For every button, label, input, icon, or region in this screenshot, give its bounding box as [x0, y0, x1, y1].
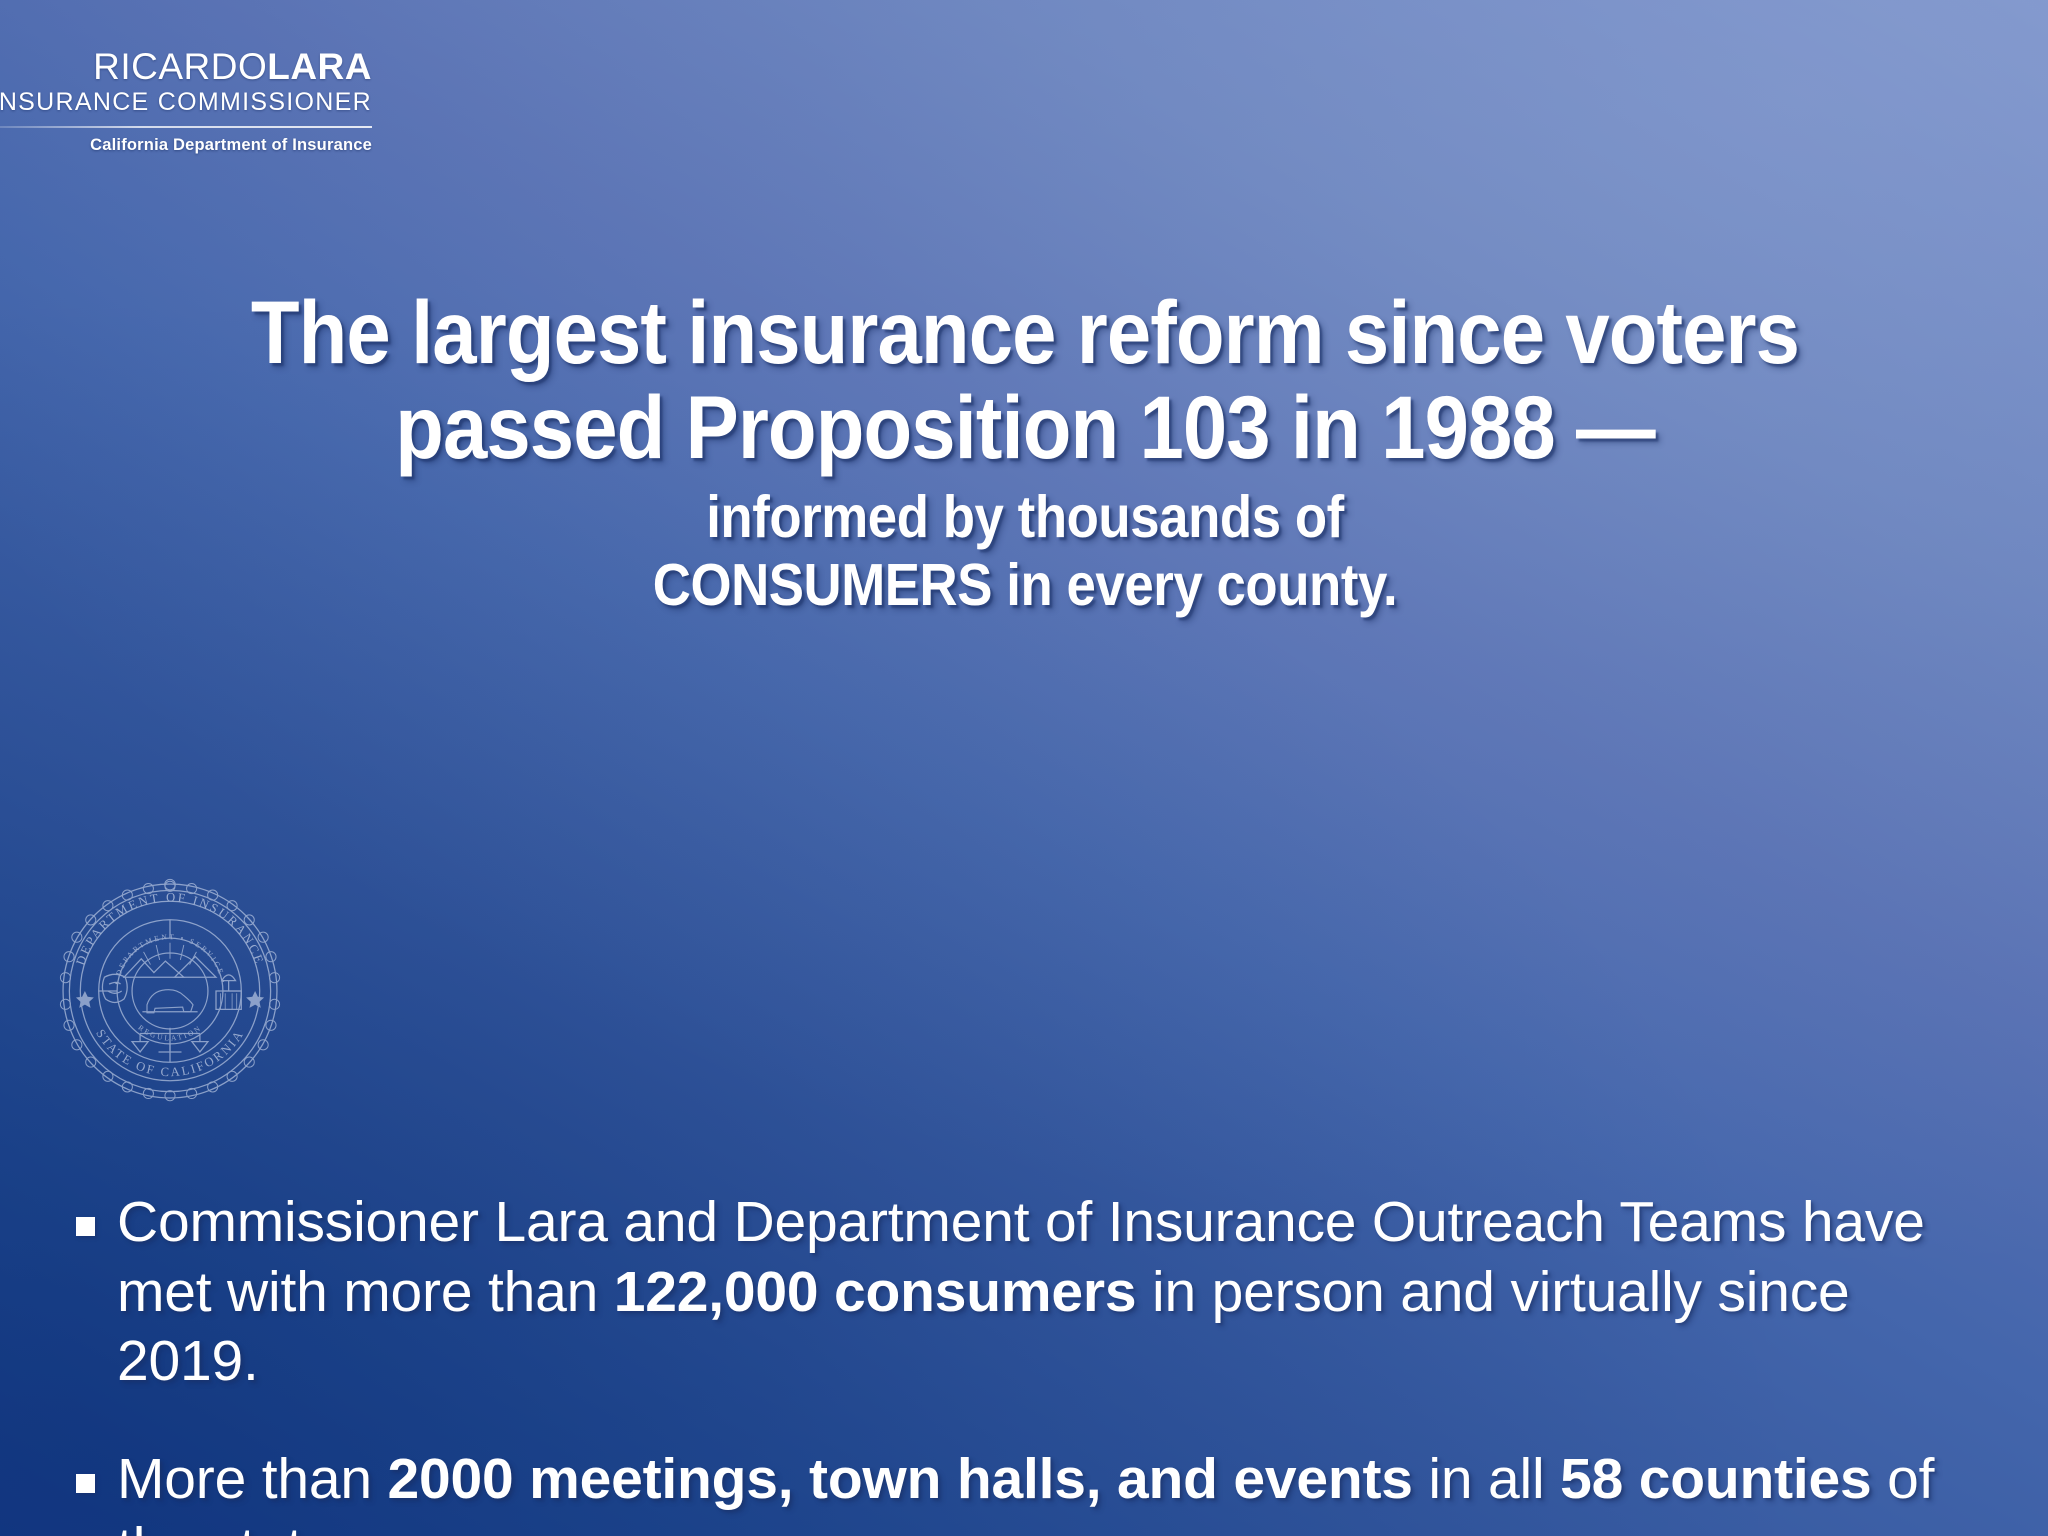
presentation-slide: RICARDOLARA INSURANCE COMMISSIONER Calif…	[0, 0, 2048, 1536]
commissioner-last-name: LARA	[267, 46, 372, 87]
seal-graphic: DEPARTMENT OF INSURANCE STATE OF CALIFOR…	[55, 876, 285, 1106]
square-bullet-icon	[76, 1474, 95, 1493]
commissioner-role: INSURANCE COMMISSIONER	[0, 89, 372, 117]
headline-line-3: informed by thousands of	[206, 484, 1844, 550]
headline-line-2: passed Proposition 103 in 1988 —	[206, 380, 1844, 474]
headline-line-4: CONSUMERS in every county.	[206, 552, 1844, 618]
list-item: Commissioner Lara and Department of Insu…	[76, 1188, 1956, 1397]
brand-lockup: RICARDOLARA INSURANCE COMMISSIONER Calif…	[0, 48, 372, 155]
headline-line-1: The largest insurance reform since voter…	[206, 285, 1844, 379]
slide-headline: The largest insurance reform since voter…	[206, 285, 1844, 618]
department-seal: DEPARTMENT OF INSURANCE STATE OF CALIFOR…	[55, 876, 285, 1106]
bullet-list: Commissioner Lara and Department of Insu…	[76, 1188, 1956, 1536]
brand-divider-rule	[0, 126, 372, 128]
department-name: California Department of Insurance	[0, 136, 372, 155]
commissioner-name: RICARDOLARA	[0, 48, 372, 86]
bullet-text-0: Commissioner Lara and Department of Insu…	[117, 1188, 1956, 1397]
commissioner-first-name: RICARDO	[93, 46, 267, 87]
bullet-text-1: More than 2000 meetings, town halls, and…	[117, 1445, 1956, 1536]
square-bullet-icon	[76, 1217, 95, 1236]
list-item: More than 2000 meetings, town halls, and…	[76, 1445, 1956, 1536]
